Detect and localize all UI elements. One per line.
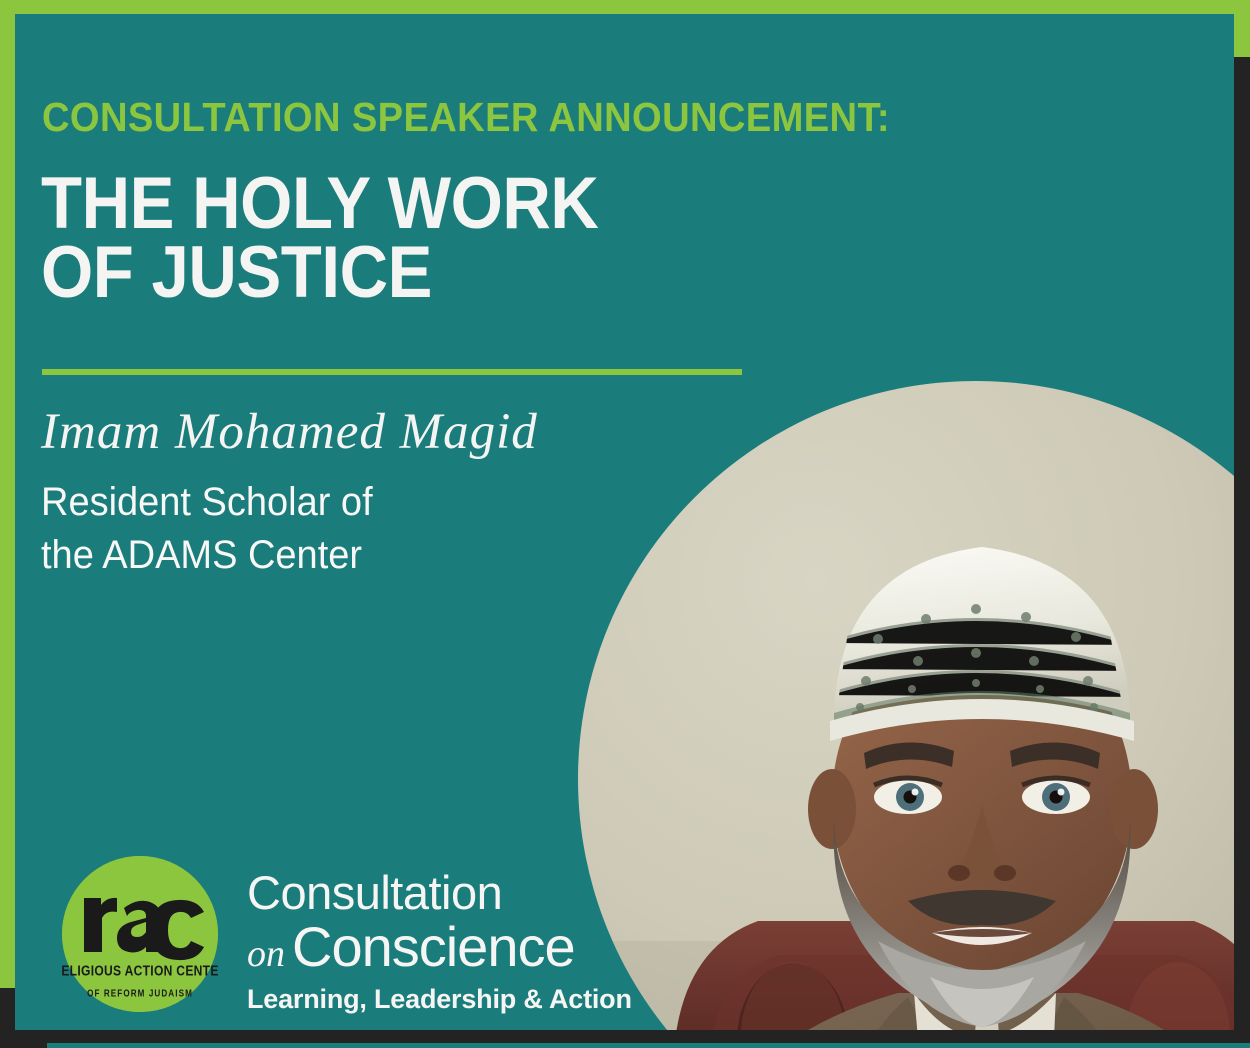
poster-card: CONSULTATION SPEAKER ANNOUNCEMENT: THE H… [15, 14, 1234, 1030]
coc-conscience-word: Conscience [292, 920, 575, 975]
bottom-teal-strip [47, 1043, 1250, 1048]
svg-text:OF REFORM JUDAISM: OF REFORM JUDAISM [87, 988, 193, 999]
headline-line-2: OF JUSTICE [41, 238, 722, 307]
speaker-role: Resident Scholar of the ADAMS Center [41, 476, 573, 582]
consultation-on-conscience-wordmark: Consultation on Conscience Learning, Lea… [247, 870, 717, 1015]
coc-title-line-2-wrap: on Conscience [247, 920, 717, 975]
green-accent-top-bar [0, 0, 1234, 15]
page-title: THE HOLY WORK OF JUSTICE [41, 169, 722, 308]
eyebrow-text: CONSULTATION SPEAKER ANNOUNCEMENT: [42, 96, 1084, 139]
svg-text:RELIGIOUS ACTION CENTER: RELIGIOUS ACTION CENTER [62, 962, 218, 978]
rac-logo-icon: RELIGIOUS ACTION CENTER OF REFORM JUDAIS… [62, 856, 218, 1012]
rac-logo-badge: RELIGIOUS ACTION CENTER OF REFORM JUDAIS… [62, 856, 218, 1012]
speaker-role-line-2: the ADAMS Center [41, 529, 573, 582]
coc-tagline: Learning, Leadership & Action [247, 984, 717, 1015]
green-accent-left-bar [0, 0, 15, 988]
headline-line-1: THE HOLY WORK [41, 169, 722, 238]
green-divider-rule [42, 369, 742, 375]
speaker-role-line-1: Resident Scholar of [41, 476, 573, 529]
coc-on-word: on [247, 936, 292, 973]
poster-canvas: CONSULTATION SPEAKER ANNOUNCEMENT: THE H… [0, 0, 1250, 1048]
coc-title-line-1: Consultation [247, 870, 717, 916]
speaker-name: Imam Mohamed Magid [41, 404, 741, 460]
